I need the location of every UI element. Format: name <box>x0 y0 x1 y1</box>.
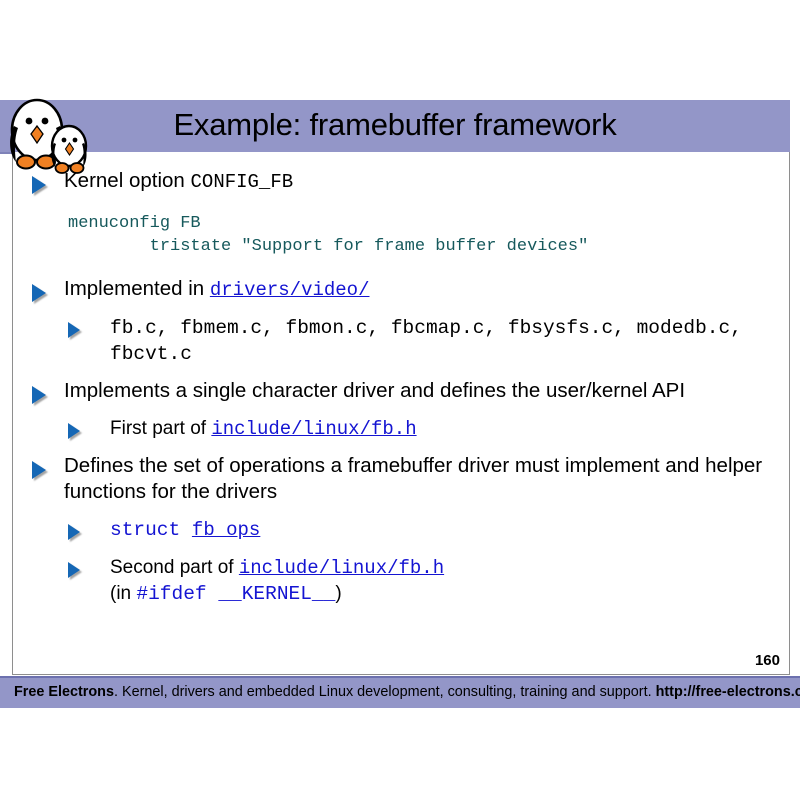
bullet-text: First part of include/linux/fb.h <box>110 407 792 445</box>
bullet-triangle-icon <box>68 322 80 338</box>
inline-link[interactable]: fb_ops <box>192 519 260 541</box>
inline-link[interactable]: include/linux/fb.h <box>211 418 416 440</box>
slide-footer-bar: Free Electrons. Kernel, drivers and embe… <box>0 676 800 708</box>
inline-text: struct <box>110 519 192 541</box>
bullet-implements-char-driver: Implements a single character driver and… <box>12 370 792 407</box>
bullet-struct-fb-ops: struct fb_ops <box>12 508 792 546</box>
inline-text: Second part of <box>110 557 239 578</box>
bullet-first-part-of-fb-h: First part of include/linux/fb.h <box>12 407 792 445</box>
bullet-text: Implements a single character driver and… <box>64 370 792 407</box>
bullet-text: Second part of include/linux/fb.h(in #if… <box>110 546 792 610</box>
inline-link[interactable]: include/linux/fb.h <box>239 557 444 579</box>
inline-text: First part of <box>110 418 211 439</box>
footer-text: Free Electrons. Kernel, drivers and embe… <box>14 678 800 708</box>
inline-text: fb.c, fbmem.c, fbmon.c, fbcmap.c, fbsysf… <box>110 317 742 365</box>
free-electrons-penguins-logo-icon <box>4 96 96 178</box>
bullet-defines-operations: Defines the set of operations a framebuf… <box>12 445 792 508</box>
code-block-menuconfig-snippet: menuconfig FB tristate "Support for fram… <box>12 212 792 258</box>
page-title: Example: framebuffer framework <box>0 100 790 152</box>
bullet-text: Kernel option CONFIG_FB <box>64 160 792 198</box>
bullet-source-files: fb.c, fbmem.c, fbmon.c, fbcmap.c, fbsysf… <box>12 306 792 370</box>
inline-link[interactable]: drivers/video/ <box>210 279 370 301</box>
bullet-triangle-icon <box>68 562 80 578</box>
bullet-second-part-of-fb-h: Second part of include/linux/fb.h(in #if… <box>12 546 792 610</box>
code-text: menuconfig FB tristate "Support for fram… <box>68 212 792 258</box>
bullet-triangle-icon <box>32 461 46 479</box>
inline-text: (in <box>110 583 136 604</box>
footer-tagline: . Kernel, drivers and embedded Linux dev… <box>114 684 656 700</box>
inline-text: #ifdef __KERNEL__ <box>136 583 335 605</box>
footer-brand: Free Electrons <box>14 684 114 700</box>
inline-text: CONFIG_FB <box>191 171 294 193</box>
bullet-triangle-icon <box>68 423 80 439</box>
footer-url[interactable]: http://free-electrons.com <box>656 684 800 700</box>
bullet-text: Implemented in drivers/video/ <box>64 268 792 306</box>
bullet-kernel-option: Kernel option CONFIG_FB <box>12 160 792 198</box>
bullet-triangle-icon <box>32 284 46 302</box>
bullet-implemented-in: Implemented in drivers/video/ <box>12 268 792 306</box>
bullet-text: struct fb_ops <box>110 508 792 546</box>
bullet-text: fb.c, fbmem.c, fbmon.c, fbcmap.c, fbsysf… <box>110 306 792 370</box>
slide-body: Kernel option CONFIG_FBmenuconfig FB tri… <box>12 160 792 610</box>
slide-canvas: Example: framebuffer framework Kernel <box>0 0 800 800</box>
page-number: 160 <box>755 652 780 669</box>
inline-text: ) <box>335 583 341 604</box>
bullet-triangle-icon <box>32 176 46 194</box>
bullet-triangle-icon <box>32 386 46 404</box>
inline-text: Implemented in <box>64 277 210 300</box>
inline-text: Defines the set of operations a framebuf… <box>64 454 762 503</box>
bullet-text: Defines the set of operations a framebuf… <box>64 445 792 508</box>
inline-text: Implements a single character driver and… <box>64 379 685 402</box>
slide-title-bar: Example: framebuffer framework <box>0 100 790 154</box>
bullet-triangle-icon <box>68 524 80 540</box>
